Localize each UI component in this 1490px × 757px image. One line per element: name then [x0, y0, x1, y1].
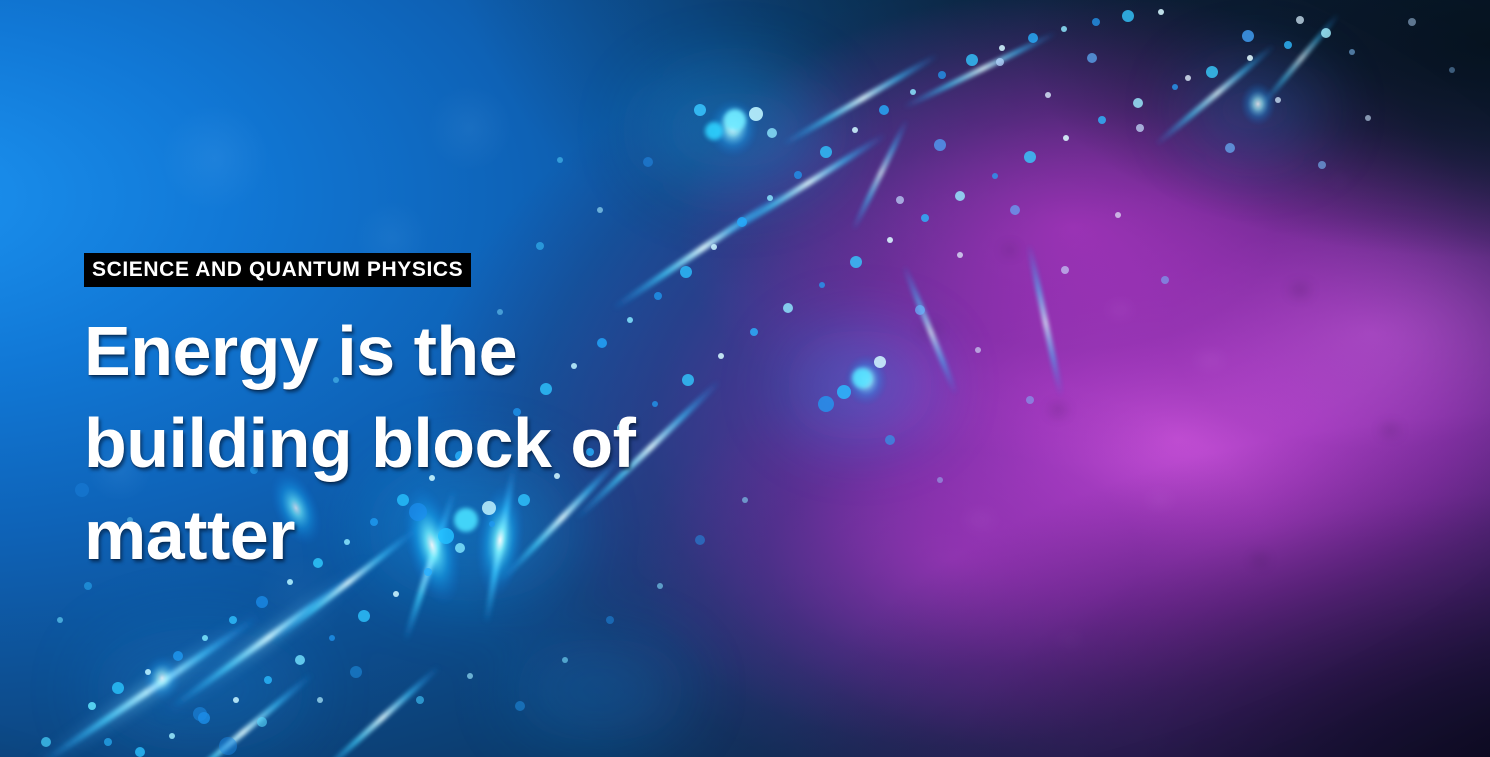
page-title: Energy is the building block of matter — [84, 305, 784, 581]
category-badge: SCIENCE AND QUANTUM PHYSICS — [84, 253, 471, 287]
hero-content: SCIENCE AND QUANTUM PHYSICS Energy is th… — [84, 253, 844, 581]
hero-banner: SCIENCE AND QUANTUM PHYSICS Energy is th… — [0, 0, 1490, 757]
